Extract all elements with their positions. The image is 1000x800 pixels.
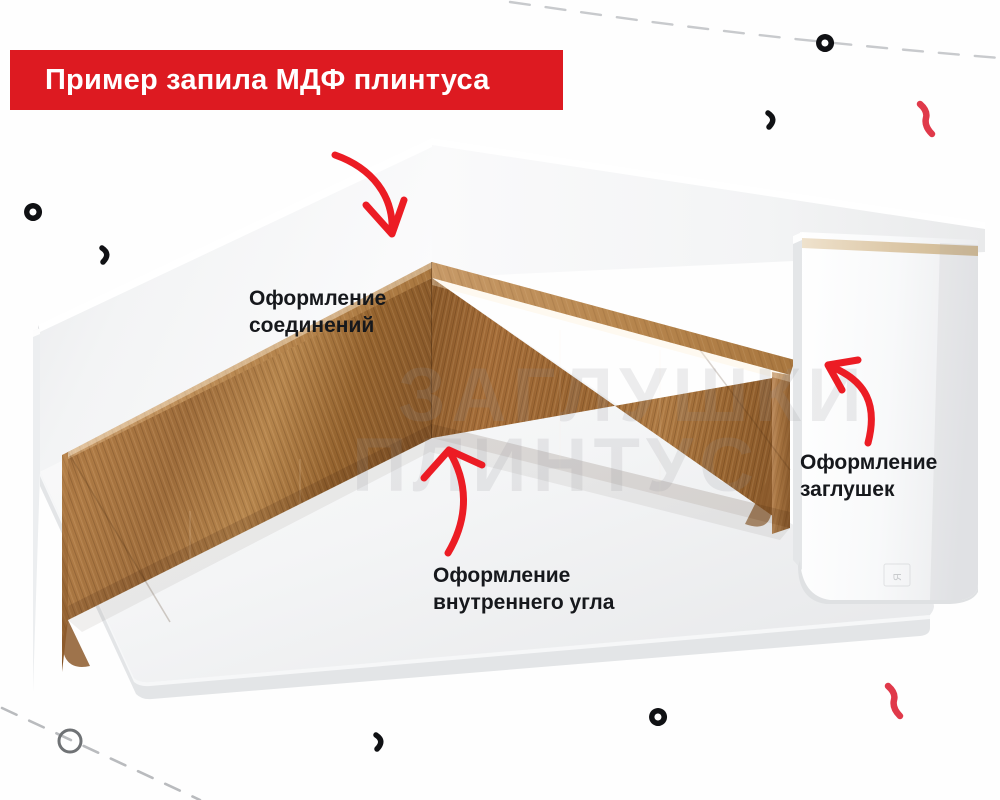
left-wall-panel	[33, 138, 432, 692]
endcap-panel: Я	[793, 232, 978, 604]
ring-top-right	[816, 34, 834, 52]
callout-label-inner-corner: Оформление внутреннего угла	[433, 563, 614, 616]
comma-mark-bottom-center	[376, 735, 381, 749]
comma-mark-left	[102, 248, 107, 262]
squiggle-bottom-right	[888, 686, 900, 716]
watermark-line-2: ПЛИНТУС	[352, 422, 760, 509]
title-text: Пример запила МДФ плинтуса	[10, 64, 490, 97]
title-banner: Пример запила МДФ плинтуса	[10, 50, 563, 110]
right-wall-panel	[432, 138, 985, 278]
comma-mark-top-center	[768, 113, 773, 127]
skirting-right-run	[432, 262, 795, 534]
curved-arrow-up-icon	[424, 450, 482, 553]
curved-arrow-up-left-icon	[828, 360, 871, 443]
image-canvas: Я ЗАГЛУШКИ ПЛИНТУС	[0, 0, 1000, 800]
foreground-decorations	[0, 0, 1000, 800]
callout-arrows	[0, 0, 1000, 800]
watermark-line-1: ЗАГЛУШКИ	[398, 352, 868, 439]
embossed-logo: Я	[884, 564, 910, 586]
skirting-board-mockup-photo: Я	[0, 0, 1000, 800]
background-decorations	[0, 0, 1000, 800]
curved-arrow-down-right-icon	[335, 155, 404, 234]
callout-label-joints: Оформление соединений	[249, 286, 386, 339]
ring-bottom-center	[649, 708, 667, 726]
ring-outline-bottom-left	[59, 730, 81, 752]
svg-text:Я: Я	[892, 573, 904, 581]
dashed-curve-top	[510, 2, 1000, 58]
callout-label-endcaps: Оформление заглушек	[800, 450, 937, 503]
dashed-line-bottom-left	[2, 708, 200, 800]
squiggle-top-right	[920, 104, 932, 134]
ring-left	[24, 203, 42, 221]
